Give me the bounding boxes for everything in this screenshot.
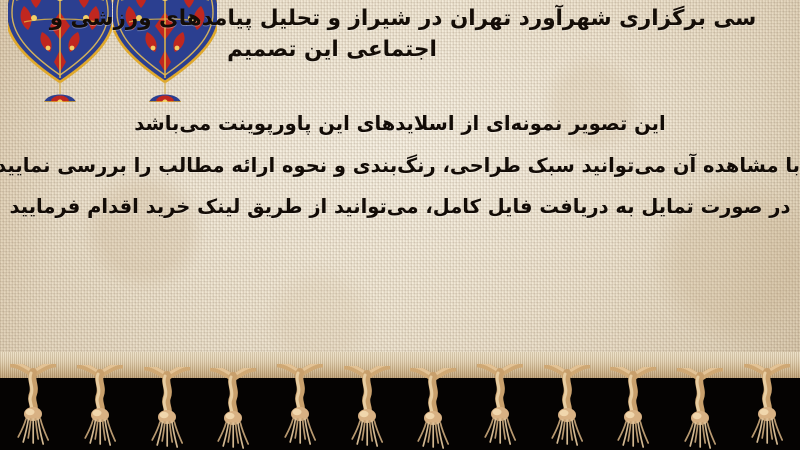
fringe-tassel [210,368,256,450]
fringe-tassel [544,365,590,449]
title-line-2: اجتماعی این تصمیم [0,35,664,66]
fringe-tassel [677,368,723,450]
fringe-tassel [744,364,790,448]
body-line-2: با مشاهده آن می‌توانید سبک طراحی، رنگ‌بن… [0,156,800,176]
fringe-tassel [277,364,323,448]
body-line-1: این تصویر نمونه‌ای از اسلایدهای این پاور… [0,114,800,134]
body-line-3: در صورت تمایل به دریافت فایل کامل، می‌تو… [0,197,800,217]
fringe-tassel [610,367,656,450]
slide-body: این تصویر نمونه‌ای از اسلایدهای این پاور… [0,114,800,217]
title-line-1: سی برگزاری شهرآورد تهران در شیراز و تحلی… [0,4,800,35]
carpet-fringe [0,352,800,450]
fringe-tassel [344,366,390,450]
tassel-row [0,366,800,450]
fringe-tassel [477,364,523,448]
fringe-tassel [10,364,56,448]
fringe-tassel [144,367,190,450]
presentation-slide: سی برگزاری شهرآورد تهران در شیراز و تحلی… [0,0,800,450]
fringe-tassel [410,368,456,450]
fringe-tassel [77,365,123,449]
slide-title: سی برگزاری شهرآورد تهران در شیراز و تحلی… [0,4,800,65]
